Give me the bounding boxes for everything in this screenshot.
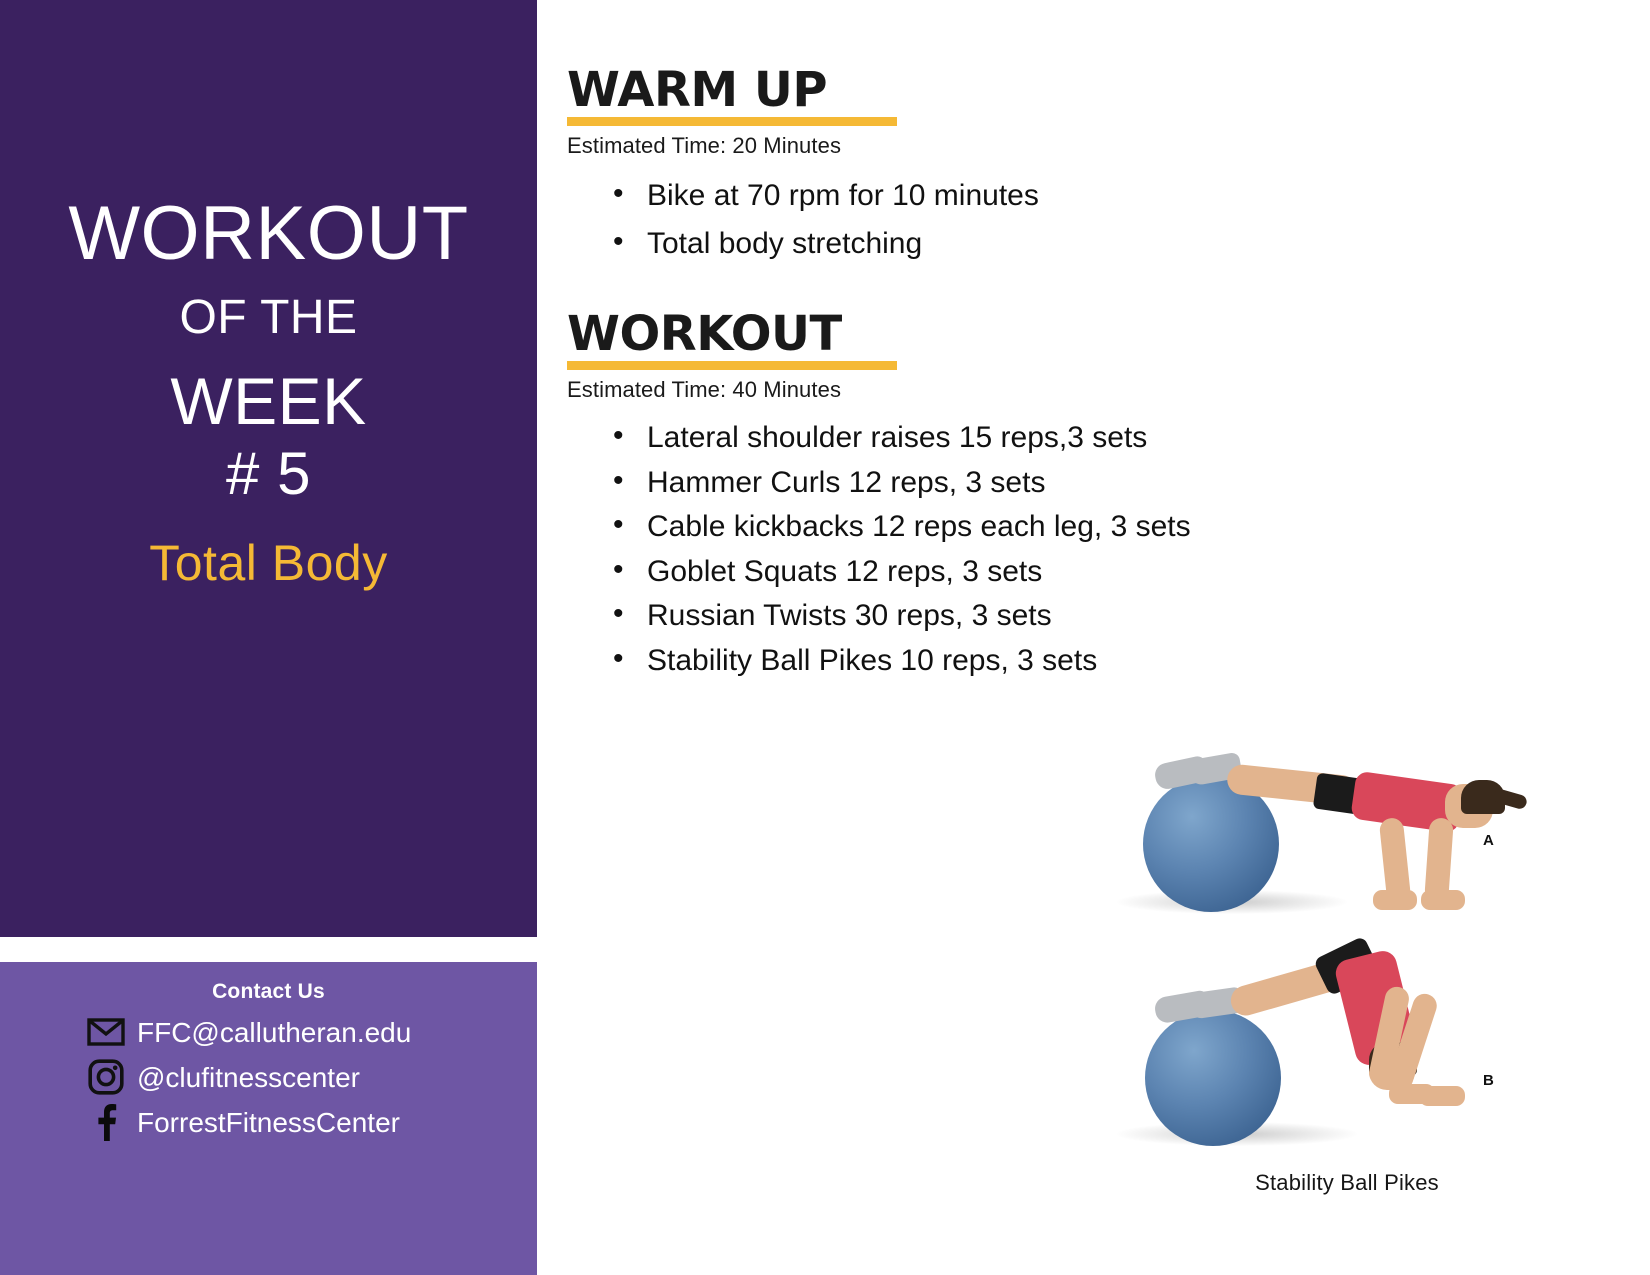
warmup-estimated-time: Estimated Time: 20 Minutes [567,133,1207,159]
workout-heading: WORKOUT [567,310,842,358]
list-item: Stability Ball Pikes 10 reps, 3 sets [567,640,1207,683]
contact-instagram-text: @clufitnesscenter [137,1060,360,1095]
contact-item-instagram[interactable]: @clufitnesscenter [0,1057,537,1097]
figure-label-b: B [1483,1072,1494,1089]
list-item: Russian Twists 30 reps, 3 sets [567,595,1207,638]
photo-goblet-squats: A B Goblet Squats [1622,0,1650,374]
photo-stability-ball-pikes: A B Stability Ball Pikes [1097,740,1597,1196]
contact-panel: Contact Us FFC@callutheran.edu @clufitne… [0,962,537,1275]
contact-facebook-text: ForrestFitnessCenter [137,1105,400,1140]
list-item: Hammer Curls 12 reps, 3 sets [567,462,1207,505]
envelope-icon [86,1012,126,1052]
stability-ball-pikes-caption: Stability Ball Pikes [1097,1170,1597,1196]
hero-week-number: # 5 [226,444,311,504]
list-item: Bike at 70 rpm for 10 minutes [567,173,1207,219]
list-item: Cable kickbacks 12 reps each leg, 3 sets [567,506,1207,549]
stability-ball-pikes-image: A B [1097,740,1597,1170]
workout-underline-rule [567,361,897,370]
warmup-section: WARM UP Estimated Time: 20 Minutes Bike … [567,66,1207,268]
warmup-list: Bike at 70 rpm for 10 minutes Total body… [567,173,1207,266]
warmup-heading: WARM UP [567,66,827,114]
hero-focus-label: Total Body [149,538,387,588]
list-item: Goblet Squats 12 reps, 3 sets [567,551,1207,594]
list-item: Lateral shoulder raises 15 reps,3 sets [567,417,1207,460]
goblet-squats-caption: Goblet Squats [1622,348,1650,374]
hero-panel: WORKOUT OF THE WEEK # 5 Total Body [0,0,537,937]
main-content: WARM UP Estimated Time: 20 Minutes Bike … [537,0,1650,1275]
instagram-icon [86,1057,126,1097]
goblet-squats-image: A B [1622,0,1650,348]
contact-email-text: FFC@callutheran.edu [137,1015,411,1050]
figure-label-a: A [1483,832,1494,849]
hero-subline-week: WEEK [170,368,366,434]
list-item: Total body stretching [567,221,1207,267]
contact-item-facebook[interactable]: ForrestFitnessCenter [0,1102,537,1142]
contact-heading: Contact Us [0,980,537,1004]
page-title: WORKOUT [68,196,468,272]
warmup-underline-rule [567,117,897,126]
workout-estimated-time: Estimated Time: 40 Minutes [567,377,1207,403]
hero-subline-of-the: OF THE [179,294,357,342]
contact-item-email[interactable]: FFC@callutheran.edu [0,1012,537,1052]
workout-list: Lateral shoulder raises 15 reps,3 sets H… [567,417,1207,683]
facebook-icon [86,1102,126,1142]
workout-section: WORKOUT Estimated Time: 40 Minutes Later… [567,310,1207,685]
